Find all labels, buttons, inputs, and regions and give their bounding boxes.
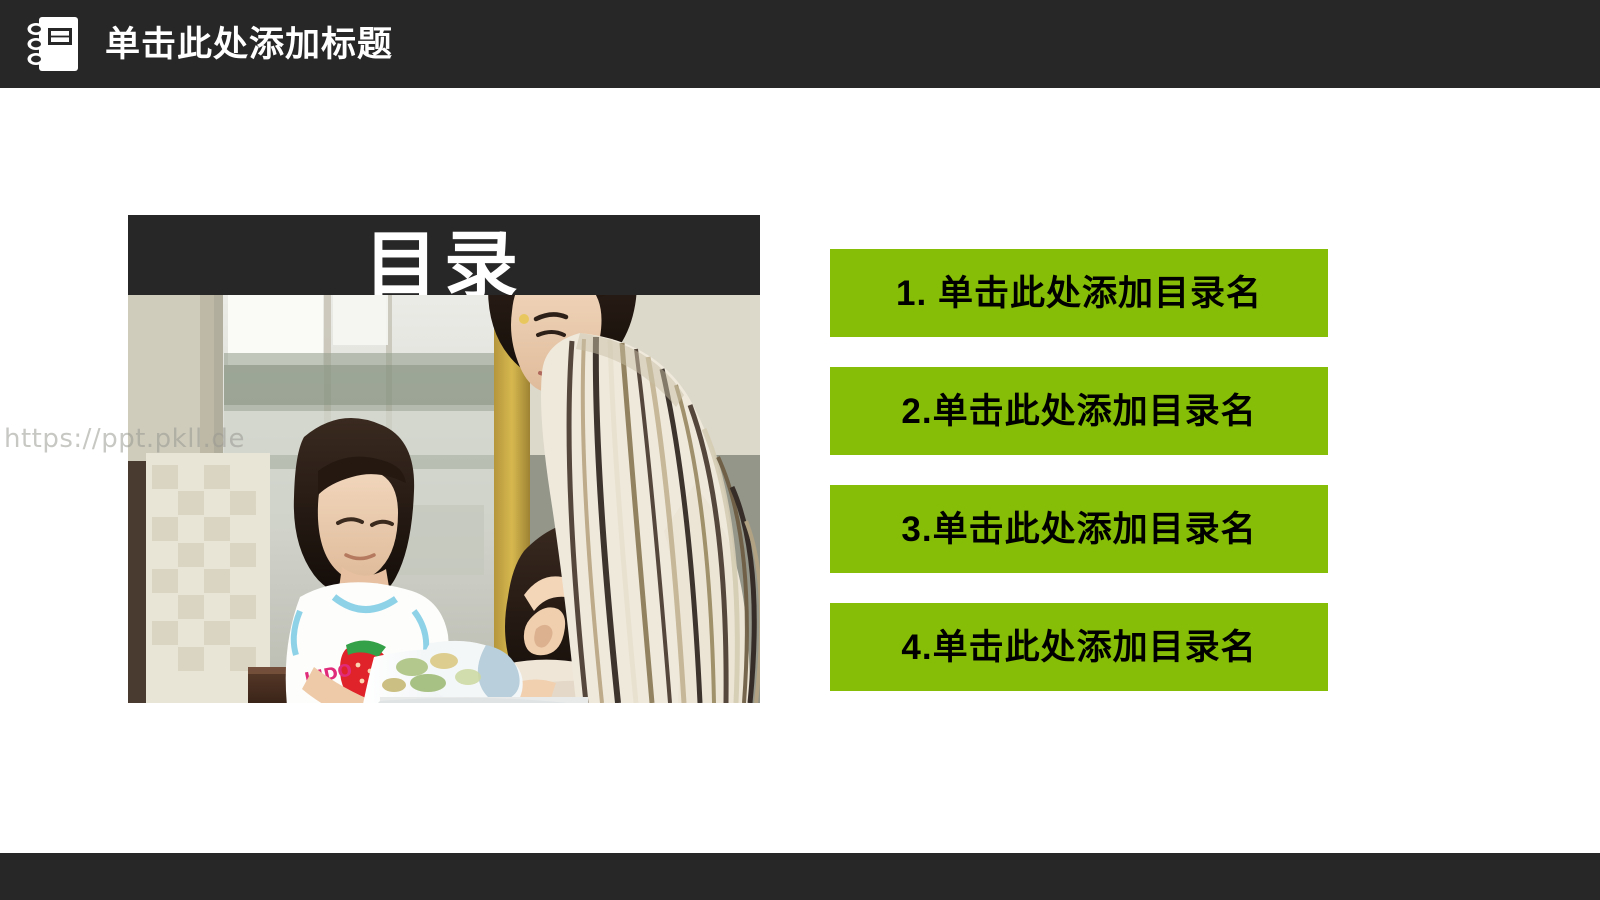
toc-list: 1. 单击此处添加目录名 2.单击此处添加目录名 3.单击此处添加目录名 4.单… <box>830 249 1328 691</box>
toc-item-4[interactable]: 4.单击此处添加目录名 <box>830 603 1328 691</box>
toc-item-1[interactable]: 1. 单击此处添加目录名 <box>830 249 1328 337</box>
notebook-icon <box>27 16 79 72</box>
picture-panel: KIDO <box>128 215 760 703</box>
page-title: 单击此处添加标题 <box>105 27 393 62</box>
caption-text: 目录 <box>128 229 760 295</box>
toc-item-3[interactable]: 3.单击此处添加目录名 <box>830 485 1328 573</box>
toc-item-2[interactable]: 2.单击此处添加目录名 <box>830 367 1328 455</box>
header-bar: 单击此处添加标题 <box>0 0 1600 88</box>
footer-bar <box>0 853 1600 900</box>
slide-canvas: 单击此处添加标题 <box>0 0 1600 900</box>
caption-band: 目录 <box>128 215 760 295</box>
